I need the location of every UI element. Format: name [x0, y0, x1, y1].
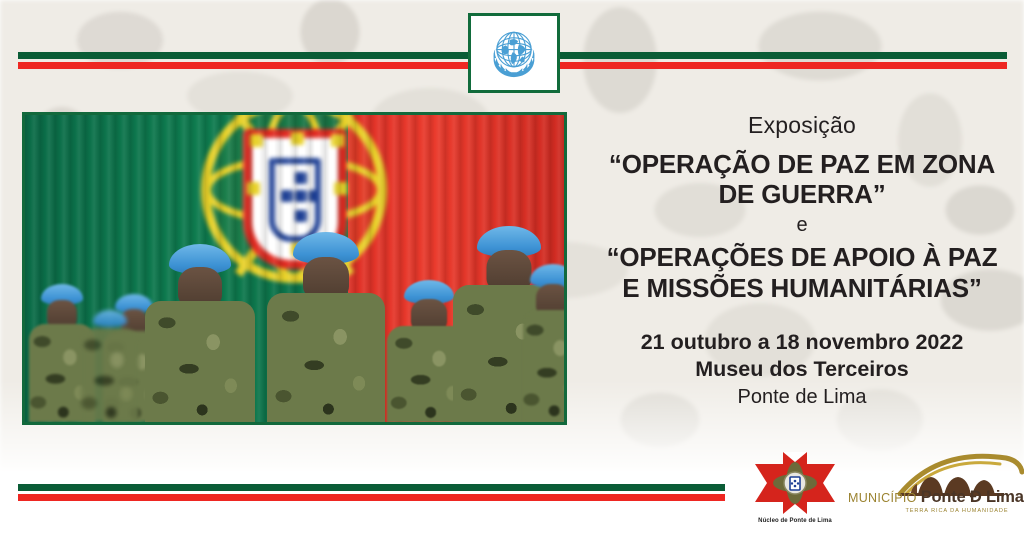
title2-line-1: “OPERAÇÕES DE APOIO À PAZ: [580, 242, 1024, 272]
stripe-red: [18, 494, 725, 501]
municipio-word: MUNICÍPIO: [848, 491, 917, 505]
soldier: [81, 310, 139, 422]
municipio-name-row: MUNICÍPIO Ponte Ð Lima: [848, 488, 1024, 507]
event-dates: 21 outubro a 18 novembro 2022: [580, 329, 1024, 356]
title-connector: e: [580, 213, 1024, 237]
liga-cross-svg: [753, 450, 837, 516]
title2-line-2: E MISSÕES HUMANITÁRIAS”: [580, 273, 1024, 303]
liga-logo-caption: Núcleo de Ponte de Lima: [742, 518, 848, 524]
event-venue: Museu dos Terceiros: [580, 356, 1024, 384]
un-peacekeepers-group: [25, 232, 564, 422]
soldier-torso: [267, 293, 385, 422]
municipio-place-name: Ponte Ð Lima: [921, 488, 1024, 507]
un-emblem-plaque: [468, 13, 560, 93]
exhibition-photo: [22, 112, 567, 425]
united-nations-icon: [479, 22, 549, 84]
municipio-wordmark: MUNICÍPIO Ponte Ð Lima TERRA RICA DA HUM…: [848, 488, 1024, 514]
title-line-2: DE GUERRA”: [580, 179, 1024, 209]
soldier-torso: [145, 301, 255, 422]
exhibition-title-secondary: “OPERAÇÕES DE APOIO À PAZ E MISSÕES HUMA…: [580, 242, 1024, 303]
soldier: [145, 244, 255, 422]
soldier: [523, 258, 567, 422]
soldier-torso: [81, 328, 139, 422]
soldier: [267, 232, 385, 422]
municipio-ponte-de-lima-logo: MUNICÍPIO Ponte Ð Lima TERRA RICA DA HUM…: [848, 452, 1024, 520]
poster-text-block: Exposição “OPERAÇÃO DE PAZ EM ZONA DE GU…: [580, 112, 1024, 411]
exhibition-title-primary: “OPERAÇÃO DE PAZ EM ZONA DE GUERRA”: [580, 149, 1024, 210]
un-blue-beret: [93, 310, 127, 327]
stripe-green: [18, 484, 725, 491]
bottom-stripe-band: [18, 484, 725, 501]
title-line-1: “OPERAÇÃO DE PAZ EM ZONA: [580, 149, 1024, 179]
liga-dos-combatentes-logo: Núcleo de Ponte de Lima: [742, 450, 848, 524]
cross-of-christ-icon: [753, 450, 837, 516]
municipio-tagline: TERRA RICA DA HUMANIDADE: [848, 508, 1024, 514]
photo-content: [25, 115, 564, 422]
event-city: Ponte de Lima: [580, 384, 1024, 411]
soldier-torso: [523, 310, 567, 422]
exposition-kicker: Exposição: [580, 112, 1024, 140]
